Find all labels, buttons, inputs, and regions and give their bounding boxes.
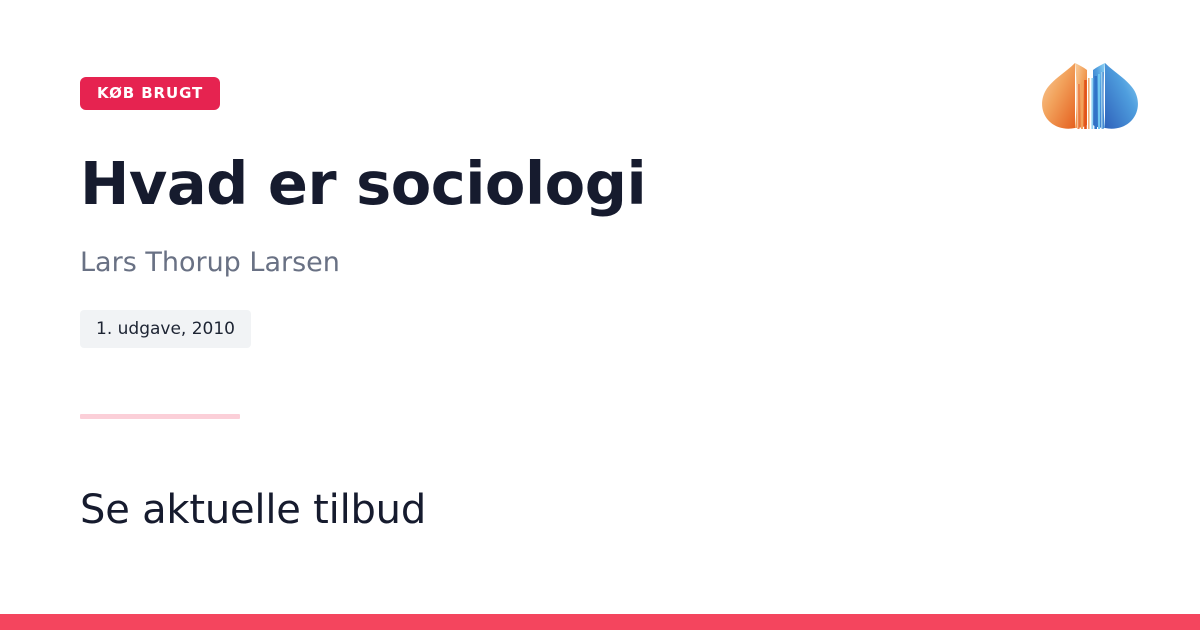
page-container: KØB BRUGT bbox=[0, 0, 1200, 630]
section-divider bbox=[80, 414, 240, 419]
status-badge: KØB BRUGT bbox=[80, 77, 220, 110]
book-author: Lars Thorup Larsen bbox=[80, 247, 340, 279]
edition-chip: 1. udgave, 2010 bbox=[80, 310, 251, 348]
page-title: Hvad er sociologi bbox=[80, 152, 646, 216]
book-butterfly-logo bbox=[1036, 50, 1144, 155]
bottom-accent-bar bbox=[0, 614, 1200, 630]
offers-heading: Se aktuelle tilbud bbox=[80, 487, 426, 533]
